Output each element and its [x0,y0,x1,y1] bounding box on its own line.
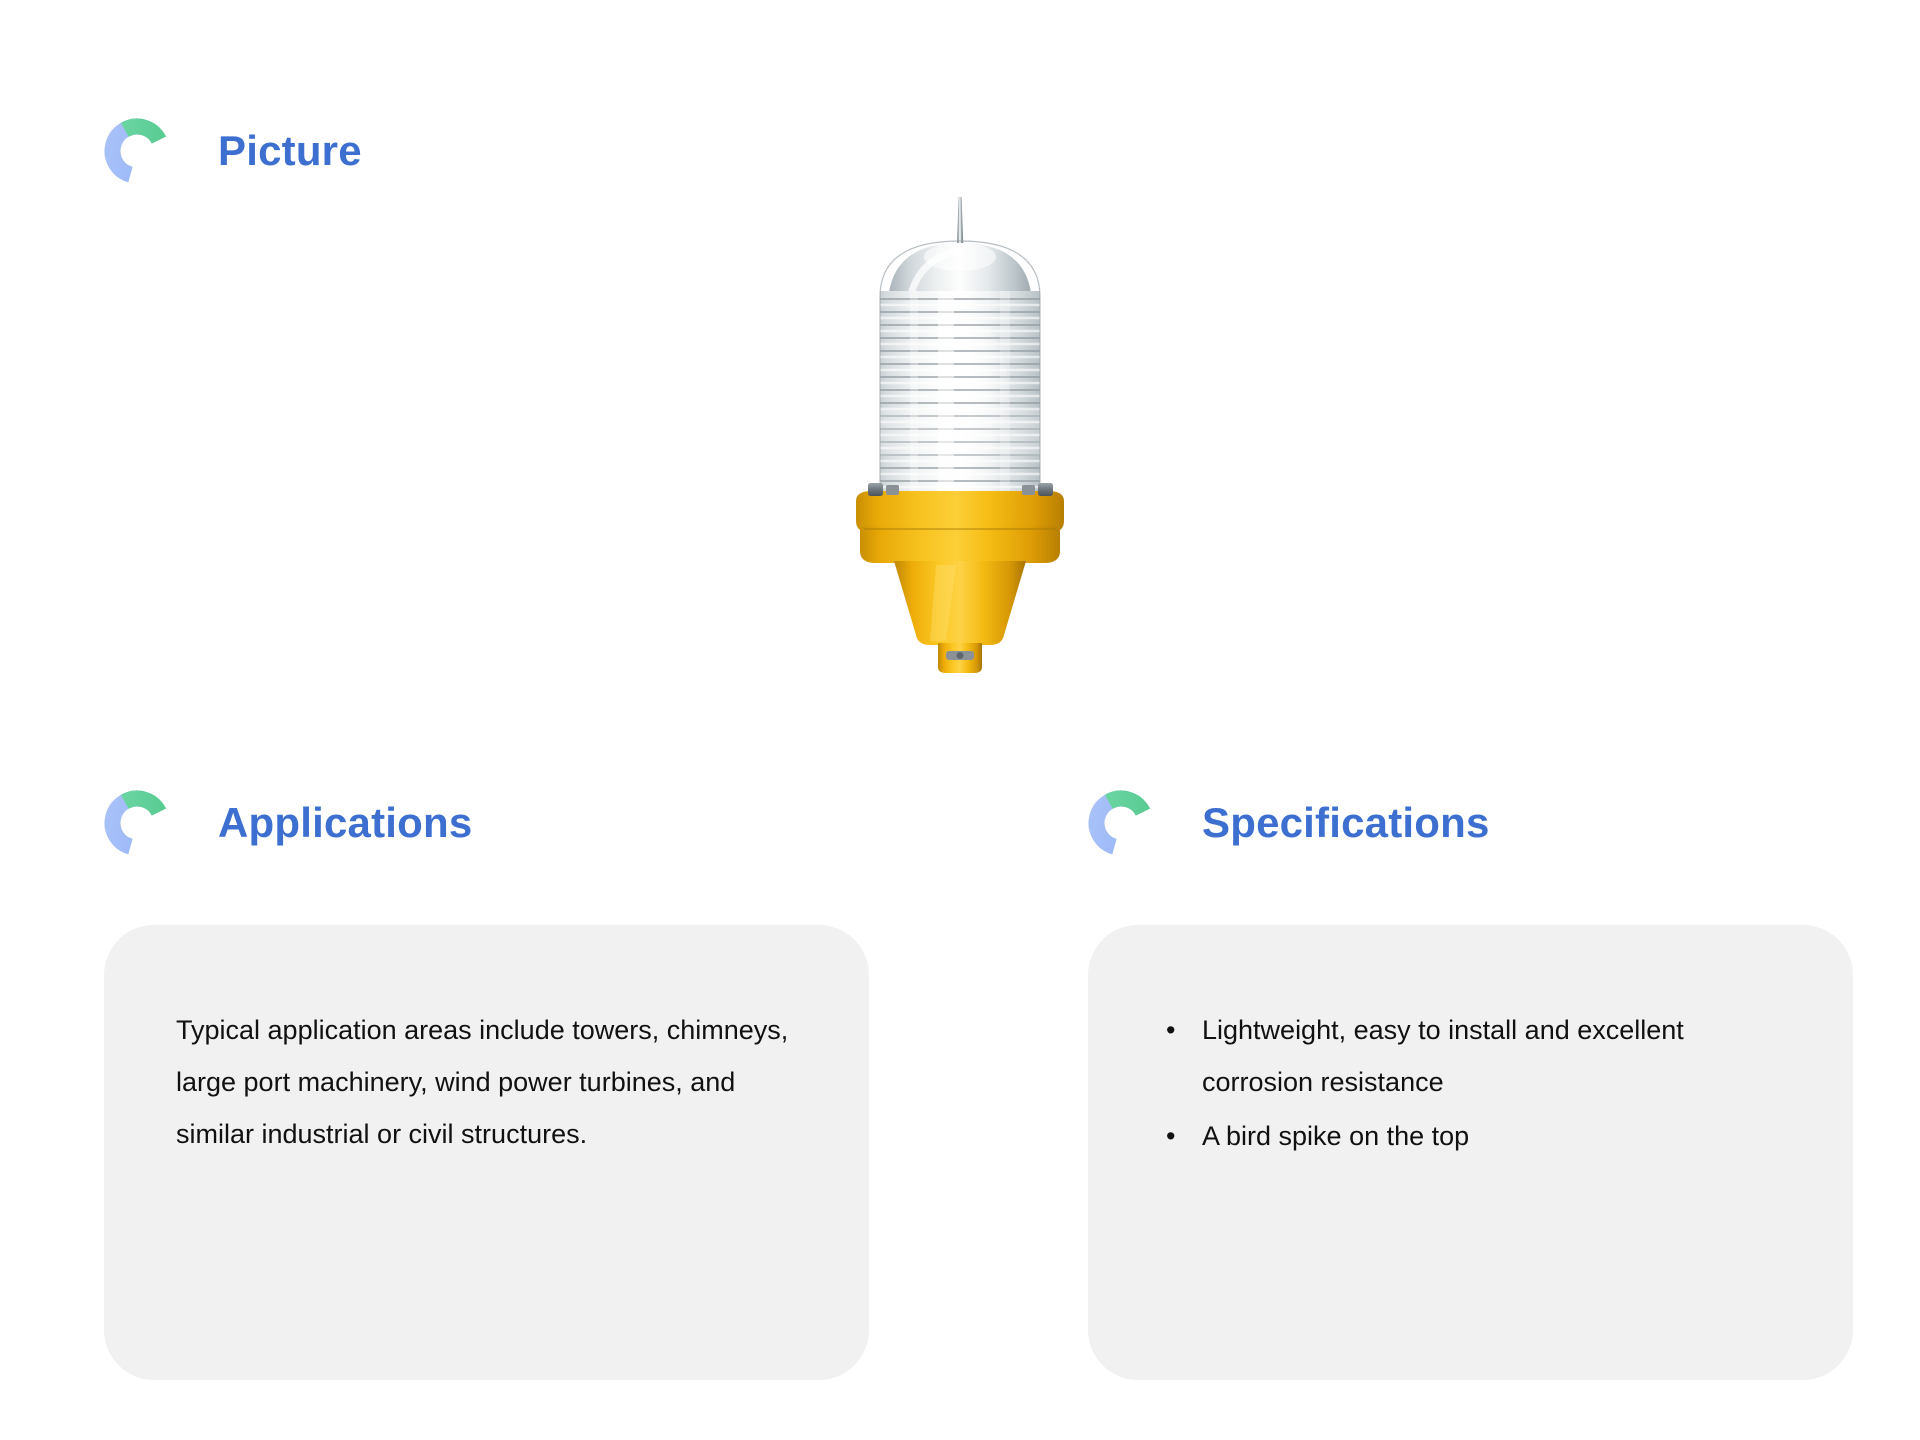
page-title: Picture [218,127,362,175]
c-logo-icon [104,790,170,856]
bird-spike [957,197,964,247]
yellow-base [856,483,1064,673]
applications-card: Typical application areas include towers… [104,925,869,1380]
c-logo-icon [1088,790,1154,856]
product-image [760,195,1160,675]
list-item-text: Lightweight, easy to install and excelle… [1202,1015,1684,1097]
list-item: • Lightweight, easy to install and excel… [1160,1005,1797,1109]
applications-title: Applications [218,799,472,847]
bullet-marker: • [1166,1005,1175,1057]
specifications-title: Specifications [1202,799,1490,847]
section-heading-specifications: Specifications [1088,790,1490,856]
list-item-text: A bird spike on the top [1202,1121,1469,1151]
specifications-card: • Lightweight, easy to install and excel… [1088,925,1853,1380]
section-heading-picture: Picture [104,118,362,184]
list-item: • A bird spike on the top [1160,1111,1797,1163]
c-logo-icon [104,118,170,184]
bullet-marker: • [1166,1111,1175,1163]
specifications-card-body: • Lightweight, easy to install and excel… [1160,1005,1797,1164]
applications-card-body: Typical application areas include towers… [176,1005,813,1160]
applications-paragraph: Typical application areas include towers… [176,1005,813,1160]
section-heading-applications: Applications [104,790,472,856]
specifications-bullet-list: • Lightweight, easy to install and excel… [1160,1005,1797,1162]
product-spec-slide: Picture [0,0,1920,1440]
